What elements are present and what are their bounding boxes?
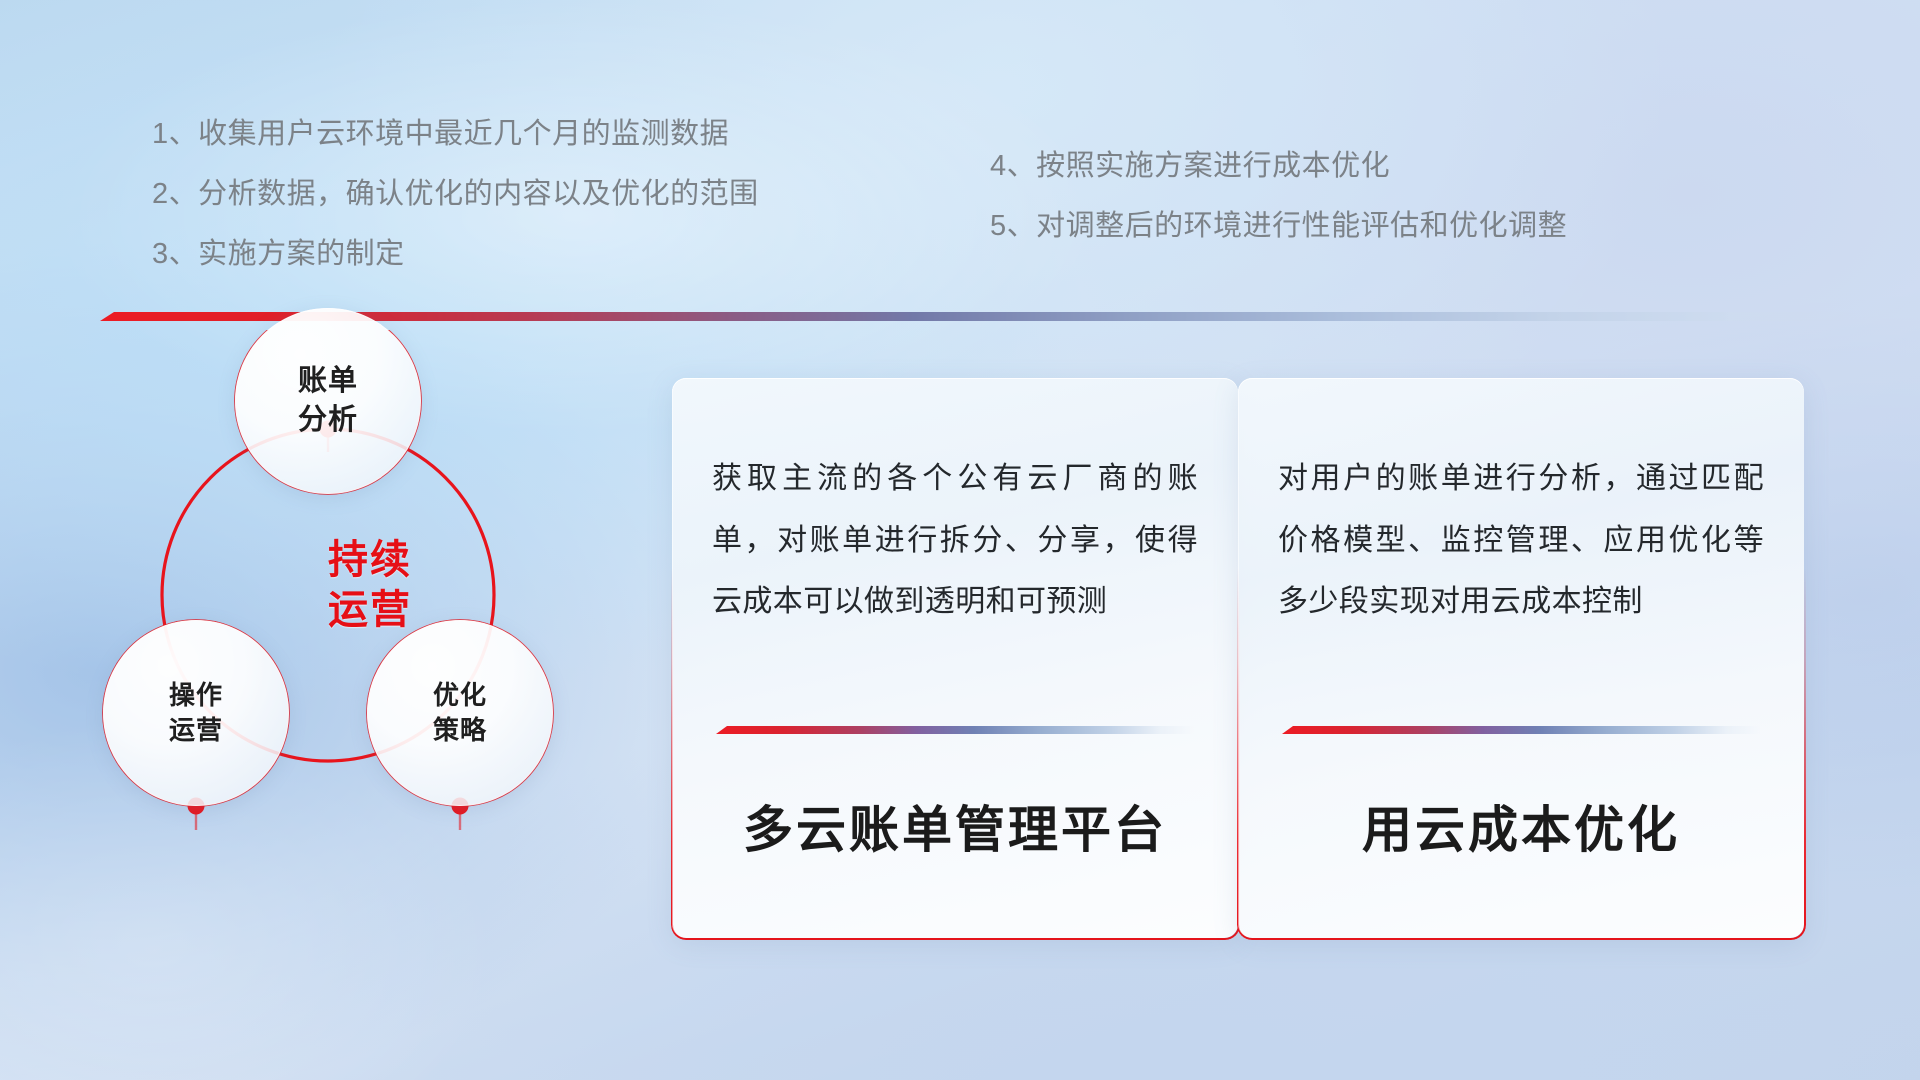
continuous-operation-diagram: 账单 分析 操作 运营 优化 策略 持续 运营 [95, 330, 655, 940]
card-divider-line [1282, 726, 1760, 734]
center-label-line1: 持续 [265, 535, 475, 585]
process-step-5: 5、对调整后的环境进行性能评估和优化调整 [990, 212, 1567, 241]
card-title: 多云账单管理平台 [672, 790, 1238, 862]
bubble-label-line2: 策略 [433, 713, 487, 748]
process-steps-column-right: 4、按照实施方案进行成本优化 5、对调整后的环境进行性能评估和优化调整 [990, 152, 1567, 272]
center-label-line2: 运营 [265, 585, 475, 635]
card-divider-line [716, 726, 1194, 734]
diagram-center-label: 持续 运营 [265, 535, 475, 635]
process-step-4: 4、按照实施方案进行成本优化 [990, 152, 1567, 181]
card-multi-cloud-billing-platform[interactable]: 获取主流的各个公有云厂商的账单，对账单进行拆分、分享，使得云成本可以做到透明和可… [672, 378, 1238, 938]
process-steps-column-left: 1、收集用户云环境中最近几个月的监测数据 2、分析数据，确认优化的内容以及优化的… [152, 120, 759, 300]
diagram-bubble-ops-operation[interactable]: 操作 运营 [103, 620, 289, 806]
process-step-3: 3、实施方案的制定 [152, 240, 759, 269]
process-step-1: 1、收集用户云环境中最近几个月的监测数据 [152, 120, 759, 149]
process-step-2: 2、分析数据，确认优化的内容以及优化的范围 [152, 180, 759, 209]
diagram-bubble-optimize-policy[interactable]: 优化 策略 [367, 620, 553, 806]
card-description: 对用户的账单进行分析，通过匹配价格模型、监控管理、应用优化等多少段实现对用云成本… [1278, 448, 1764, 633]
card-cloud-cost-optimization[interactable]: 对用户的账单进行分析，通过匹配价格模型、监控管理、应用优化等多少段实现对用云成本… [1238, 378, 1804, 938]
card-description: 获取主流的各个公有云厂商的账单，对账单进行拆分、分享，使得云成本可以做到透明和可… [712, 448, 1198, 633]
bubble-label-line2: 运营 [169, 713, 223, 748]
card-divider-bar [1282, 726, 1760, 734]
diagram-bubble-bill-analysis[interactable]: 账单 分析 [235, 308, 421, 494]
bubble-label-line2: 分析 [298, 401, 358, 440]
card-divider-bar [716, 726, 1194, 734]
card-title: 用云成本优化 [1238, 790, 1804, 862]
bubble-label-line1: 操作 [169, 678, 223, 713]
bubble-label-line1: 账单 [298, 362, 358, 401]
bubble-label-line1: 优化 [433, 678, 487, 713]
